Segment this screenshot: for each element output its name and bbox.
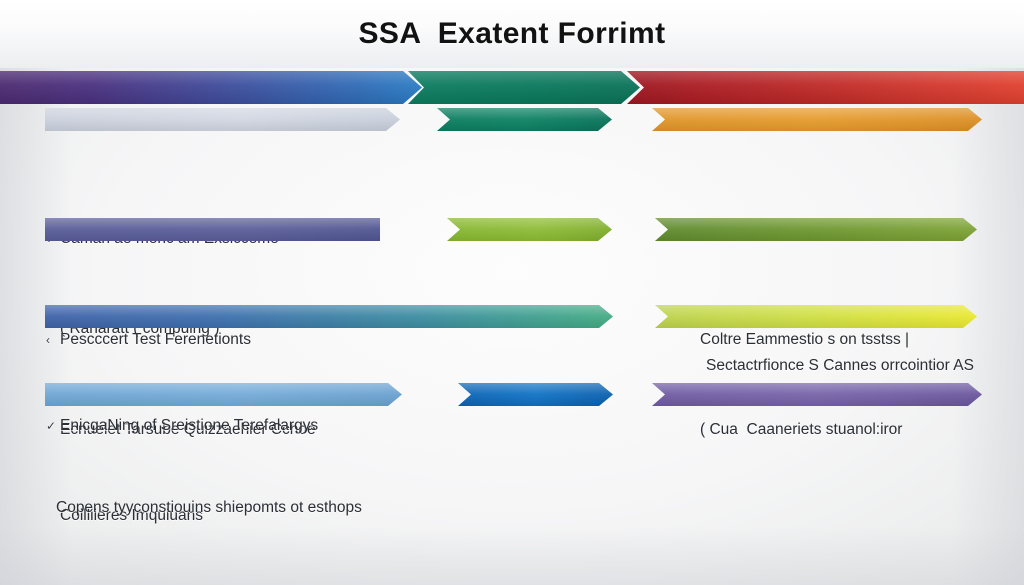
- bar-gloss-overlay: [45, 305, 613, 328]
- banner-gloss-overlay: [0, 71, 422, 104]
- bar-gloss-overlay: [458, 383, 613, 406]
- banner-segment-teal: [408, 71, 640, 104]
- bar-right-4: [652, 383, 982, 406]
- bar-middle-4: [458, 383, 613, 406]
- bar-gloss-overlay: [652, 383, 982, 406]
- bar-right-1: [652, 108, 982, 131]
- bar-gloss-overlay: [447, 218, 612, 241]
- bar-gloss-overlay: [655, 218, 977, 241]
- bar-gloss-overlay: [45, 218, 380, 241]
- banner-gloss-overlay: [408, 71, 640, 104]
- bar-left-1: [45, 108, 400, 131]
- bar-middle-2: [447, 218, 612, 241]
- bar-left-2: [45, 218, 380, 241]
- banner-bar: [0, 71, 1024, 104]
- bar-left-3: [45, 305, 613, 328]
- title-area: SSA Exatent Forrimt: [0, 0, 1024, 68]
- bar-gloss-overlay: [45, 108, 400, 131]
- content-area: ✓Caman ae menc am Exsicceme ( Ranaratt (…: [0, 108, 1024, 585]
- slide-canvas: SSA Exatent Forrimt ✓Caman ae me: [0, 0, 1024, 585]
- bar-gloss-overlay: [652, 108, 982, 131]
- row-2-right-line-2: ( Cua Caaneriets stuanol:iror: [700, 415, 909, 445]
- row-4-left-line-1: Copens tyyconstiouins shiepomts ot estho…: [56, 493, 362, 523]
- bar-right-3: [655, 305, 977, 328]
- row-4-left-text: Copens tyyconstiouins shiepomts ot estho…: [56, 433, 362, 585]
- bar-left-4: [45, 383, 402, 406]
- page-title: SSA Exatent Forrimt: [359, 17, 666, 51]
- bar-gloss-overlay: [655, 305, 977, 328]
- bar-gloss-overlay: [437, 108, 612, 131]
- bar-gloss-overlay: [45, 383, 402, 406]
- banner-gloss-overlay: [627, 71, 1024, 104]
- row-3-right-line-1: Sectactrfionce S Cannes orrcointior AS: [706, 357, 974, 374]
- bar-middle-1: [437, 108, 612, 131]
- row-2-left-line-1: Pescccert Test Ferenetionts: [60, 331, 251, 348]
- row-3-left-line-1: EnicgaNing of Sreistione Terefalargys: [60, 417, 318, 434]
- banner-segment-purple-blue: [0, 71, 422, 104]
- banner-segment-red: [627, 71, 1024, 104]
- bar-right-2: [655, 218, 977, 241]
